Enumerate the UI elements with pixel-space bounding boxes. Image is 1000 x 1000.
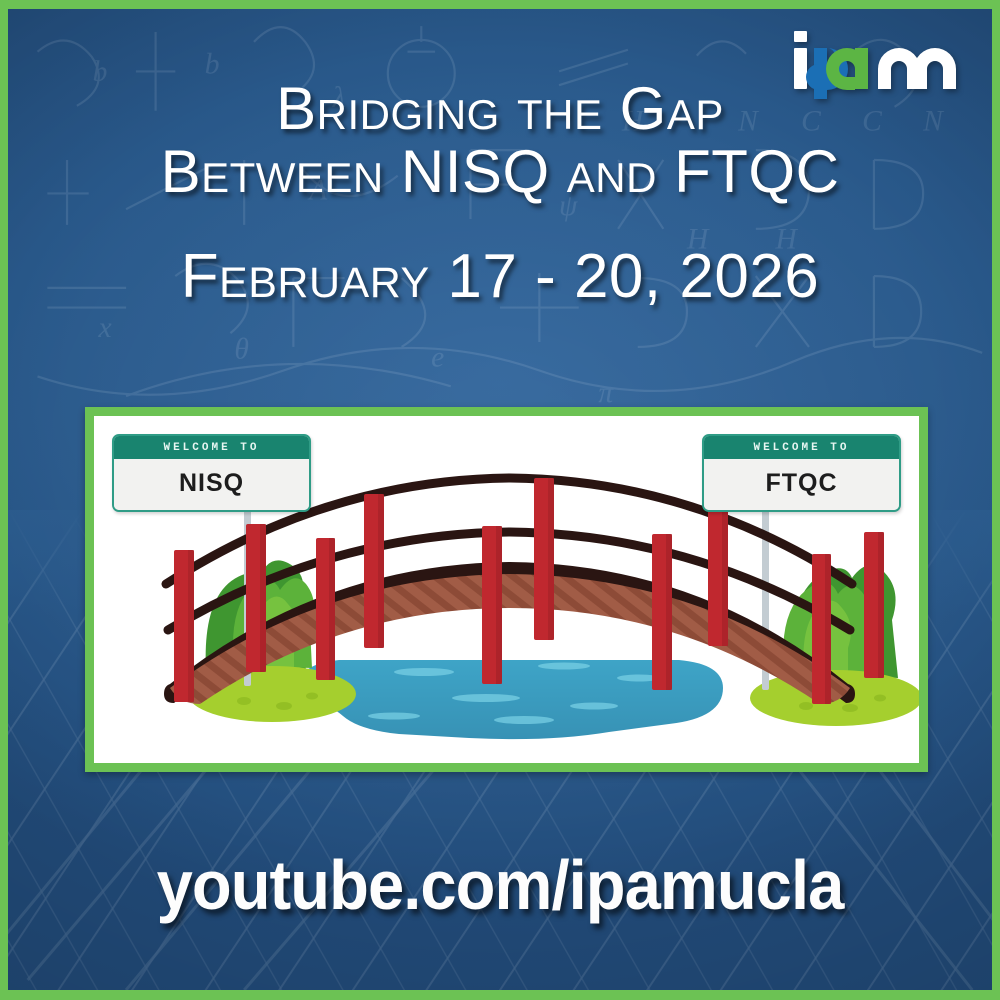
event-dates: February 17 - 20, 2026 bbox=[8, 244, 992, 310]
event-poster: bb λH NC CN Aψ HH xθ eπ bbox=[0, 0, 1000, 1000]
bridge-illustration-panel: WELCOME TO NISQ WELCOME TO FTQC bbox=[85, 407, 928, 772]
bridge-illustration-canvas: WELCOME TO NISQ WELCOME TO FTQC bbox=[94, 416, 919, 763]
sign-label-ftqc: FTQC bbox=[704, 459, 899, 510]
sign-banner-left: WELCOME TO bbox=[114, 436, 309, 459]
welcome-sign-nisq: WELCOME TO NISQ bbox=[112, 434, 311, 512]
sign-label-nisq: NISQ bbox=[114, 459, 309, 510]
youtube-url[interactable]: youtube.com/ipamucla bbox=[42, 847, 957, 923]
page-title: Bridging the Gap Between NISQ and FTQC bbox=[8, 77, 992, 203]
sign-banner-right: WELCOME TO bbox=[704, 436, 899, 459]
title-line-1: Bridging the Gap bbox=[8, 77, 992, 140]
title-line-2: Between NISQ and FTQC bbox=[8, 140, 992, 203]
welcome-sign-ftqc: WELCOME TO FTQC bbox=[702, 434, 901, 512]
